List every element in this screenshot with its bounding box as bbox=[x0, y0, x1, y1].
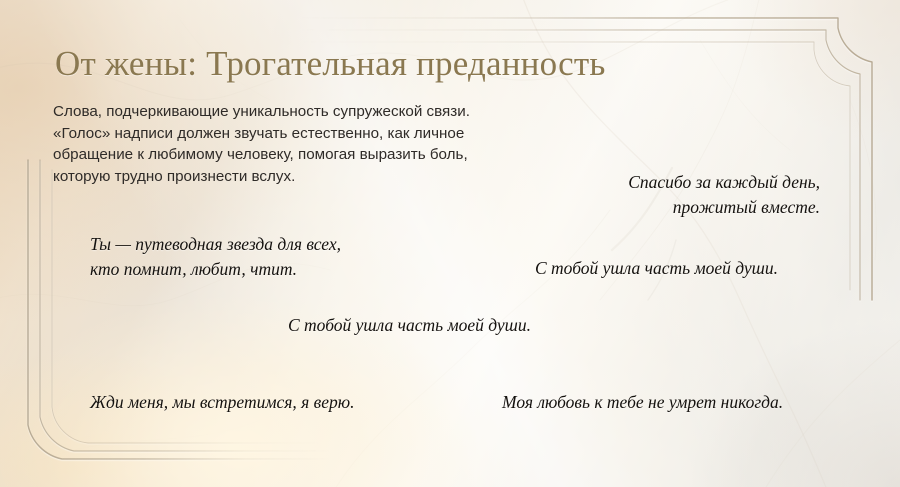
quote-love-never-dies-line-1: Моя любовь к тебе не умрет никогда. bbox=[502, 390, 783, 415]
quote-thanks: Спасибо за каждый день, прожитый вместе. bbox=[604, 170, 820, 220]
quote-guiding-star-line-2: кто помнит, любит, чтит. bbox=[90, 257, 341, 282]
intro-paragraph: Слова, подчеркивающие уникальность супру… bbox=[53, 101, 470, 187]
quote-guiding-star-line-1: Ты — путеводная звезда для всех, bbox=[90, 232, 341, 257]
intro-line-1: Слова, подчеркивающие уникальность супру… bbox=[53, 101, 470, 123]
quote-guiding-star: Ты — путеводная звезда для всех, кто пом… bbox=[90, 232, 341, 282]
slide-content: От жены: Трогательная преданность Слова,… bbox=[0, 0, 900, 487]
quote-soul-center-line-1: С тобой ушла часть моей души. bbox=[288, 313, 531, 338]
slide-canvas: От жены: Трогательная преданность Слова,… bbox=[0, 0, 900, 487]
quote-soul-right-line-1: С тобой ушла часть моей души. bbox=[535, 256, 778, 281]
quote-thanks-line-1: Спасибо за каждый день, bbox=[604, 170, 820, 195]
intro-line-2: «Голос» надписи должен звучать естествен… bbox=[53, 123, 470, 145]
quote-love-never-dies: Моя любовь к тебе не умрет никогда. bbox=[502, 390, 783, 415]
quote-thanks-line-2: прожитый вместе. bbox=[604, 195, 820, 220]
quote-soul-right: С тобой ушла часть моей души. bbox=[535, 256, 778, 281]
quote-wait-for-me-line-1: Жди меня, мы встретимся, я верю. bbox=[90, 390, 355, 415]
intro-line-4: которую трудно произнести вслух. bbox=[53, 166, 470, 188]
intro-line-3: обращение к любимому человеку, помогая в… bbox=[53, 144, 470, 166]
quote-soul-center: С тобой ушла часть моей души. bbox=[288, 313, 531, 338]
page-title: От жены: Трогательная преданность bbox=[55, 44, 606, 84]
quote-wait-for-me: Жди меня, мы встретимся, я верю. bbox=[90, 390, 355, 415]
